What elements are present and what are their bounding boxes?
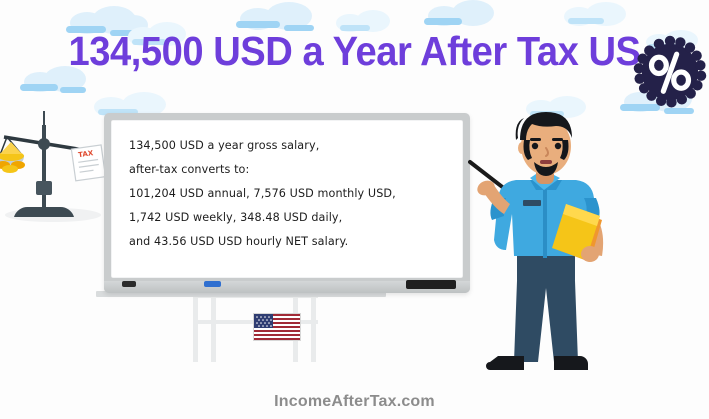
blue-marker-icon xyxy=(204,281,221,287)
page-title: 134,500 USD a Year After Tax US xyxy=(68,31,640,72)
percent-badge-icon xyxy=(633,35,707,109)
whiteboard-line-3: 101,204 USD annual, 7,576 USD monthly US… xyxy=(129,182,455,206)
black-marker-icon xyxy=(122,281,136,287)
balance-scale-icon: TAX xyxy=(0,103,116,223)
tax-document-icon: TAX xyxy=(71,145,105,181)
eraser-icon xyxy=(406,280,456,289)
teacher-character-illustration xyxy=(468,104,638,386)
us-flag-icon xyxy=(253,313,301,341)
whiteboard-line-4: 1,742 USD weekly, 348.48 USD daily, xyxy=(129,206,455,230)
whiteboard-line-2: after-tax converts to: xyxy=(129,158,455,182)
site-watermark: IncomeAfterTax.com xyxy=(274,393,435,410)
banner-canvas: 134,500 USD a Year After Tax US xyxy=(0,0,709,419)
whiteboard-line-1: 134,500 USD a year gross salary, xyxy=(129,134,455,158)
whiteboard-text-block: 134,500 USD a year gross salary, after-t… xyxy=(129,134,455,254)
banner-title-container: 134,500 USD a Year After Tax US xyxy=(0,22,709,80)
footer: IncomeAfterTax.com xyxy=(0,393,709,411)
whiteboard: 134,500 USD a year gross salary, after-t… xyxy=(104,113,470,293)
whiteboard-line-5: and 43.56 USD USD hourly NET salary. xyxy=(129,230,455,254)
marker-tray xyxy=(104,281,470,293)
whiteboard-surface: 134,500 USD a year gross salary, after-t… xyxy=(111,120,463,278)
